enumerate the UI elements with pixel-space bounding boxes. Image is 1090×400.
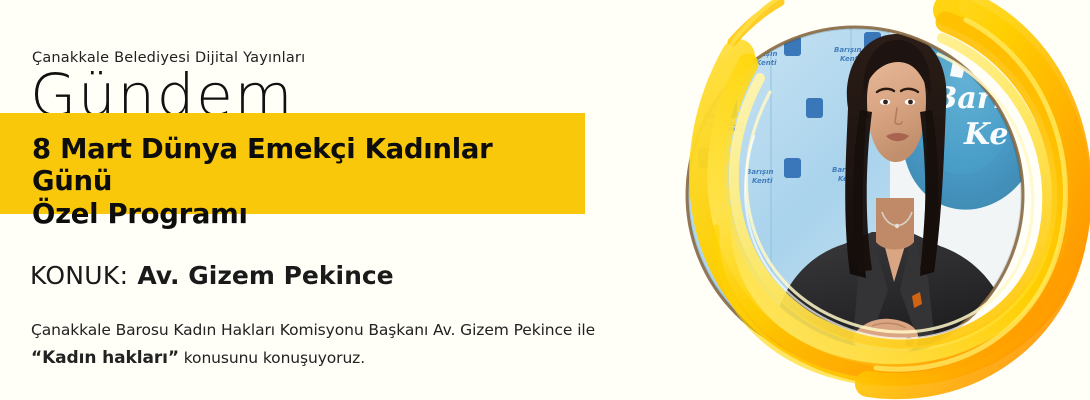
svg-text:Barışın: Barışın [834, 46, 861, 54]
episode-description: Çanakkale Barosu Kadın Hakları Komisyonu… [31, 319, 651, 371]
description-quoted-topic: “Kadın hakları” [31, 348, 179, 368]
guest-line: KONUK:Av. Gizem Pekince [30, 261, 394, 290]
episode-title-line1: 8 Mart Dünya Emekçi Kadınlar Günü [32, 133, 492, 197]
guest-name: Av. Gizem Pekince [137, 261, 393, 290]
svg-text:Kenti: Kenti [752, 177, 773, 185]
guest-label: KONUK: [30, 261, 128, 290]
svg-text:Ke: Ke [963, 117, 1009, 152]
svg-text:Barışın: Barışın [746, 168, 773, 176]
broadcast-title-card: Barışın Kenti Barışın Kenti Barışın Kent… [0, 0, 1090, 400]
portrait-visual: Barışın Kenti Barışın Kenti Barışın Kent… [620, 0, 1090, 400]
episode-title-line2: Özel Programı [32, 198, 577, 230]
svg-text:Kenti: Kenti [756, 59, 777, 67]
description-line2-rest: konusunu konuşuyoruz. [179, 349, 365, 367]
episode-title: 8 Mart Dünya Emekçi Kadınlar Günü Özel P… [32, 133, 577, 230]
description-line2: “Kadın hakları” konusunu konuşuyoruz. [31, 346, 651, 371]
description-line1: Çanakkale Barosu Kadın Hakları Komisyonu… [31, 319, 651, 341]
